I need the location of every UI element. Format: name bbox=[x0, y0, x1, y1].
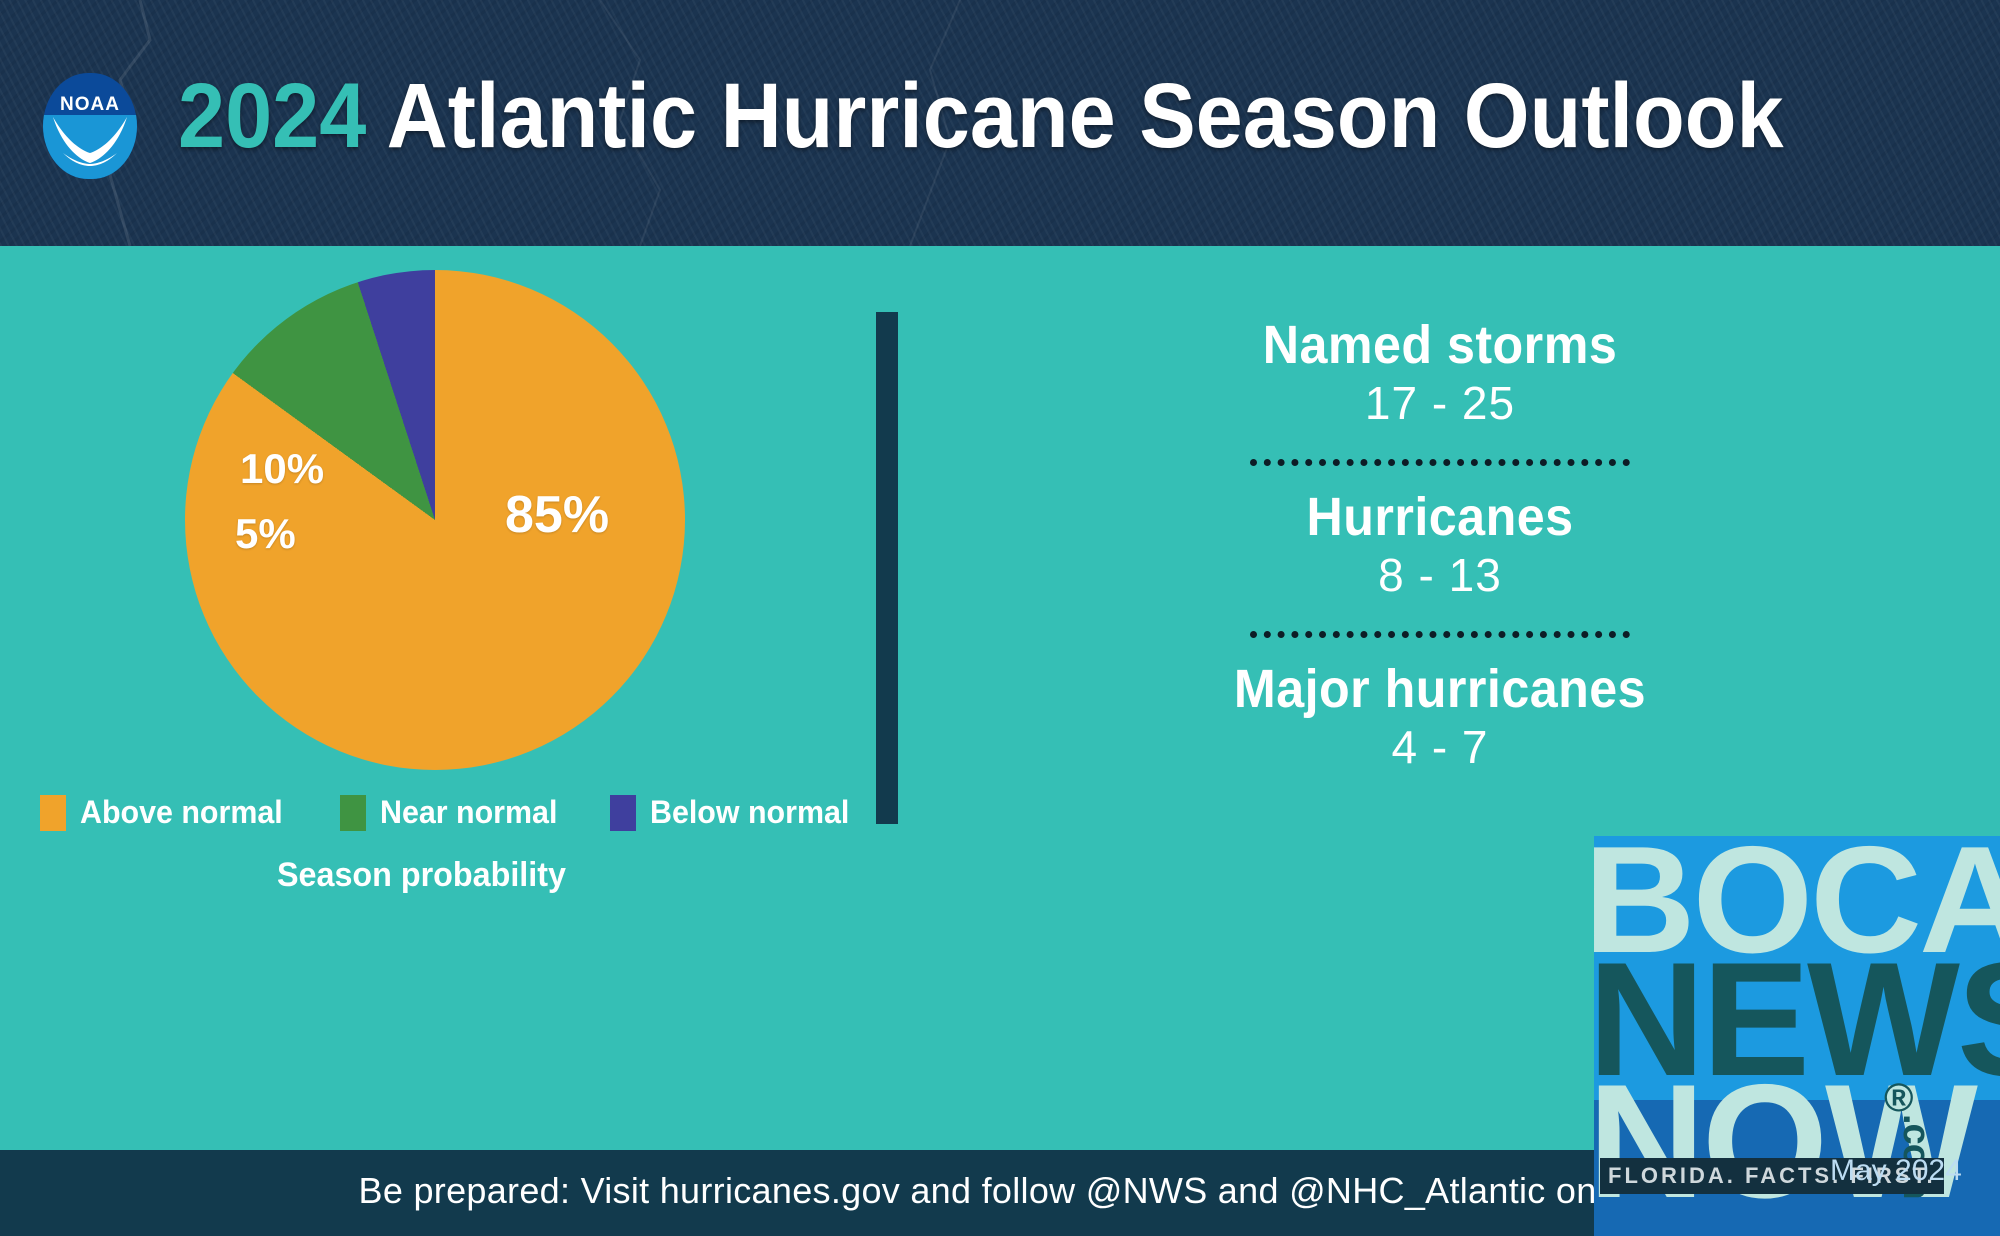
stat-range-hurricanes: 8 - 13 bbox=[1000, 547, 1880, 605]
noaa-seagull-icon bbox=[51, 113, 129, 169]
pie-label-above-normal: 85% bbox=[505, 485, 609, 545]
stat-named-storms: Named storms 17 - 25 bbox=[1000, 316, 1880, 433]
header-banner: NOAA 2024 Atlantic Hurricane Season Outl… bbox=[0, 0, 2000, 246]
boca-news-now-watermark: BOCA NEWS NOW ® .com FLORIDA. FACTS. FIR… bbox=[1594, 836, 2000, 1236]
chart-caption: Season probability bbox=[277, 856, 566, 895]
stat-heading-named-storms: Named storms bbox=[1031, 316, 1849, 375]
stats-divider-2 bbox=[1250, 631, 1630, 638]
stats-divider-1 bbox=[1250, 459, 1630, 466]
stat-major-hurricanes: Major hurricanes 4 - 7 bbox=[1000, 660, 1880, 777]
stat-range-named-storms: 17 - 25 bbox=[1000, 375, 1880, 433]
legend-label-below-normal: Below normal bbox=[650, 794, 849, 831]
vertical-divider-bar bbox=[876, 312, 898, 824]
legend-item-above-normal: Above normal bbox=[40, 794, 293, 831]
chart-legend: Above normal Near normal Below normal bbox=[40, 794, 840, 840]
forecast-stats-panel: Named storms 17 - 25 Hurricanes 8 - 13 M… bbox=[1000, 316, 1880, 777]
legend-swatch-below-normal bbox=[610, 795, 636, 831]
stat-hurricanes: Hurricanes 8 - 13 bbox=[1000, 488, 1880, 605]
watermark-date: May 2024 bbox=[1830, 1154, 1962, 1188]
infographic-root: NOAA 2024 Atlantic Hurricane Season Outl… bbox=[0, 0, 2000, 1236]
title-year: 2024 bbox=[178, 65, 366, 167]
stat-heading-major-hurricanes: Major hurricanes bbox=[1031, 660, 1849, 719]
legend-label-above-normal: Above normal bbox=[80, 794, 283, 831]
season-probability-pie-chart: 85% 10% 5% bbox=[185, 270, 685, 770]
noaa-logo-wordmark: NOAA bbox=[43, 95, 137, 114]
noaa-logo: NOAA bbox=[43, 73, 137, 179]
pie-label-below-normal: 5% bbox=[235, 510, 296, 558]
pie-label-near-normal: 10% bbox=[240, 445, 324, 493]
stat-range-major-hurricanes: 4 - 7 bbox=[1000, 719, 1880, 777]
legend-item-below-normal: Below normal bbox=[610, 794, 860, 831]
legend-swatch-near-normal bbox=[340, 795, 366, 831]
page-title: 2024 Atlantic Hurricane Season Outlook bbox=[178, 70, 1784, 162]
legend-item-near-normal: Near normal bbox=[340, 794, 567, 831]
title-rest: Atlantic Hurricane Season Outlook bbox=[366, 65, 1783, 167]
legend-label-near-normal: Near normal bbox=[380, 794, 557, 831]
stat-heading-hurricanes: Hurricanes bbox=[1031, 488, 1849, 547]
legend-swatch-above-normal bbox=[40, 795, 66, 831]
